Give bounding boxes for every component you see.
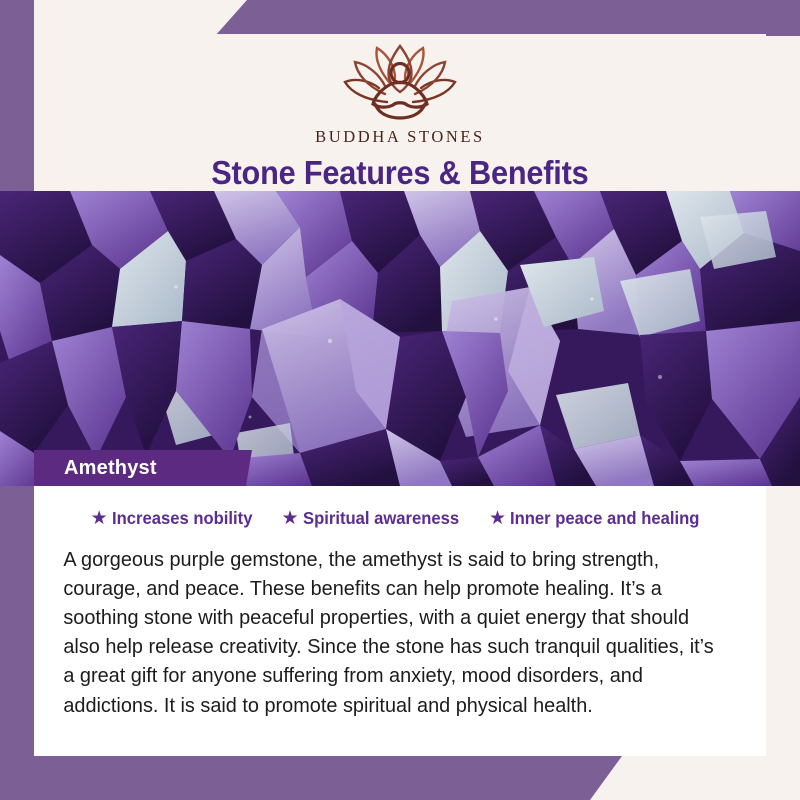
body-panel: ★ Increases nobility ★ Spiritual awarene… xyxy=(34,486,766,756)
stone-infographic-card: BUDDHA STONES Stone Features & Benefits xyxy=(0,0,800,800)
brand-logo: BUDDHA STONES xyxy=(315,38,485,147)
benefit-item: ★ Increases nobility xyxy=(91,508,260,529)
brand-name: BUDDHA STONES xyxy=(315,127,485,147)
crystal-cluster-illustration xyxy=(0,191,800,486)
stone-description: A gorgeous purple gemstone, the amethyst… xyxy=(42,545,737,720)
star-icon: ★ xyxy=(489,509,506,528)
benefit-label: Spiritual awareness xyxy=(303,508,459,529)
hero-image-amethyst-cluster xyxy=(0,191,800,486)
page-title: Stone Features & Benefits xyxy=(211,154,588,192)
stone-name: Amethyst xyxy=(64,457,157,480)
benefit-label: Increases nobility xyxy=(112,508,252,529)
benefit-label: Inner peace and healing xyxy=(510,508,699,529)
decorative-band-top-right xyxy=(215,0,800,36)
benefit-item: ★ Inner peace and healing xyxy=(489,508,709,529)
decorative-band-bottom xyxy=(0,756,622,800)
star-icon: ★ xyxy=(91,509,108,528)
stone-name-banner: Amethyst xyxy=(34,450,252,486)
benefits-list: ★ Increases nobility ★ Spiritual awarene… xyxy=(42,508,758,529)
star-icon: ★ xyxy=(282,509,299,528)
header: BUDDHA STONES Stone Features & Benefits xyxy=(34,34,766,191)
lotus-meditation-icon xyxy=(325,38,475,122)
title-banner: Stone Features & Benefits xyxy=(34,154,766,192)
benefit-item: ★ Spiritual awareness xyxy=(282,508,467,529)
